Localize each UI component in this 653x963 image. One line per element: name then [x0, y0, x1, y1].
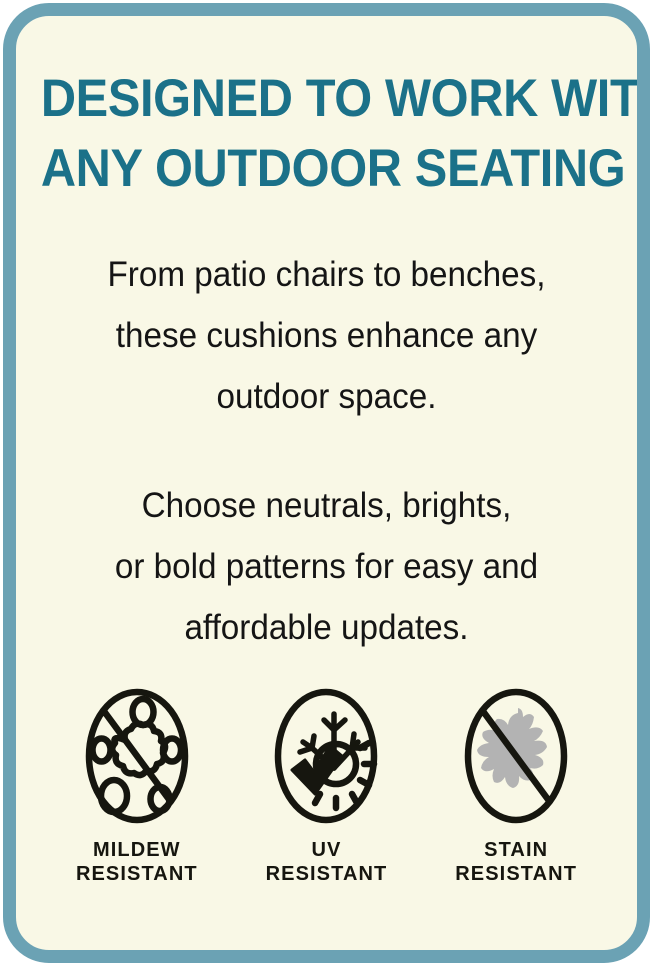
headline-line-1: DESIGNED TO WORK WITH	[41, 64, 612, 134]
paragraph-1-line-2: these cushions enhance any	[32, 305, 622, 366]
feature-card: DESIGNED TO WORK WITH ANY OUTDOOR SEATIN…	[3, 3, 650, 963]
stain-resistant-icon	[462, 686, 570, 826]
feature-badge-row: MILDEW RESISTANT	[16, 686, 637, 886]
paragraph-1-line-1: From patio chairs to benches,	[32, 244, 622, 305]
badge-stain-label-line-2: RESISTANT	[455, 862, 577, 886]
badge-uv-resistant: UV RESISTANT	[239, 686, 414, 886]
badge-mildew-label: MILDEW RESISTANT	[76, 838, 198, 886]
mildew-resistant-icon	[83, 686, 191, 826]
body-copy: From patio chairs to benches, these cush…	[32, 244, 622, 658]
paragraph-2-line-1: Choose neutrals, brights,	[32, 475, 622, 536]
paragraph-2: Choose neutrals, brights, or bold patter…	[32, 475, 622, 658]
badge-mildew-resistant: MILDEW RESISTANT	[49, 686, 224, 886]
paragraph-2-line-2: or bold patterns for easy and	[32, 536, 622, 597]
badge-stain-label-line-1: STAIN	[455, 838, 577, 862]
badge-mildew-label-line-1: MILDEW	[76, 838, 198, 862]
paragraph-2-line-3: affordable updates.	[32, 597, 622, 658]
badge-stain-label: STAIN RESISTANT	[455, 838, 577, 886]
badge-uv-label-line-1: UV	[266, 838, 388, 862]
paragraph-1-line-3: outdoor space.	[32, 366, 622, 427]
card-inner: DESIGNED TO WORK WITH ANY OUTDOOR SEATIN…	[16, 16, 637, 950]
headline-line-2: ANY OUTDOOR SEATING	[41, 134, 612, 204]
uv-resistant-icon	[272, 686, 380, 826]
badge-uv-label: UV RESISTANT	[266, 838, 388, 886]
badge-uv-label-line-2: RESISTANT	[266, 862, 388, 886]
badge-mildew-label-line-2: RESISTANT	[76, 862, 198, 886]
badge-stain-resistant: STAIN RESISTANT	[429, 686, 604, 886]
paragraph-1: From patio chairs to benches, these cush…	[32, 244, 622, 427]
page-title: DESIGNED TO WORK WITH ANY OUTDOOR SEATIN…	[41, 64, 612, 204]
